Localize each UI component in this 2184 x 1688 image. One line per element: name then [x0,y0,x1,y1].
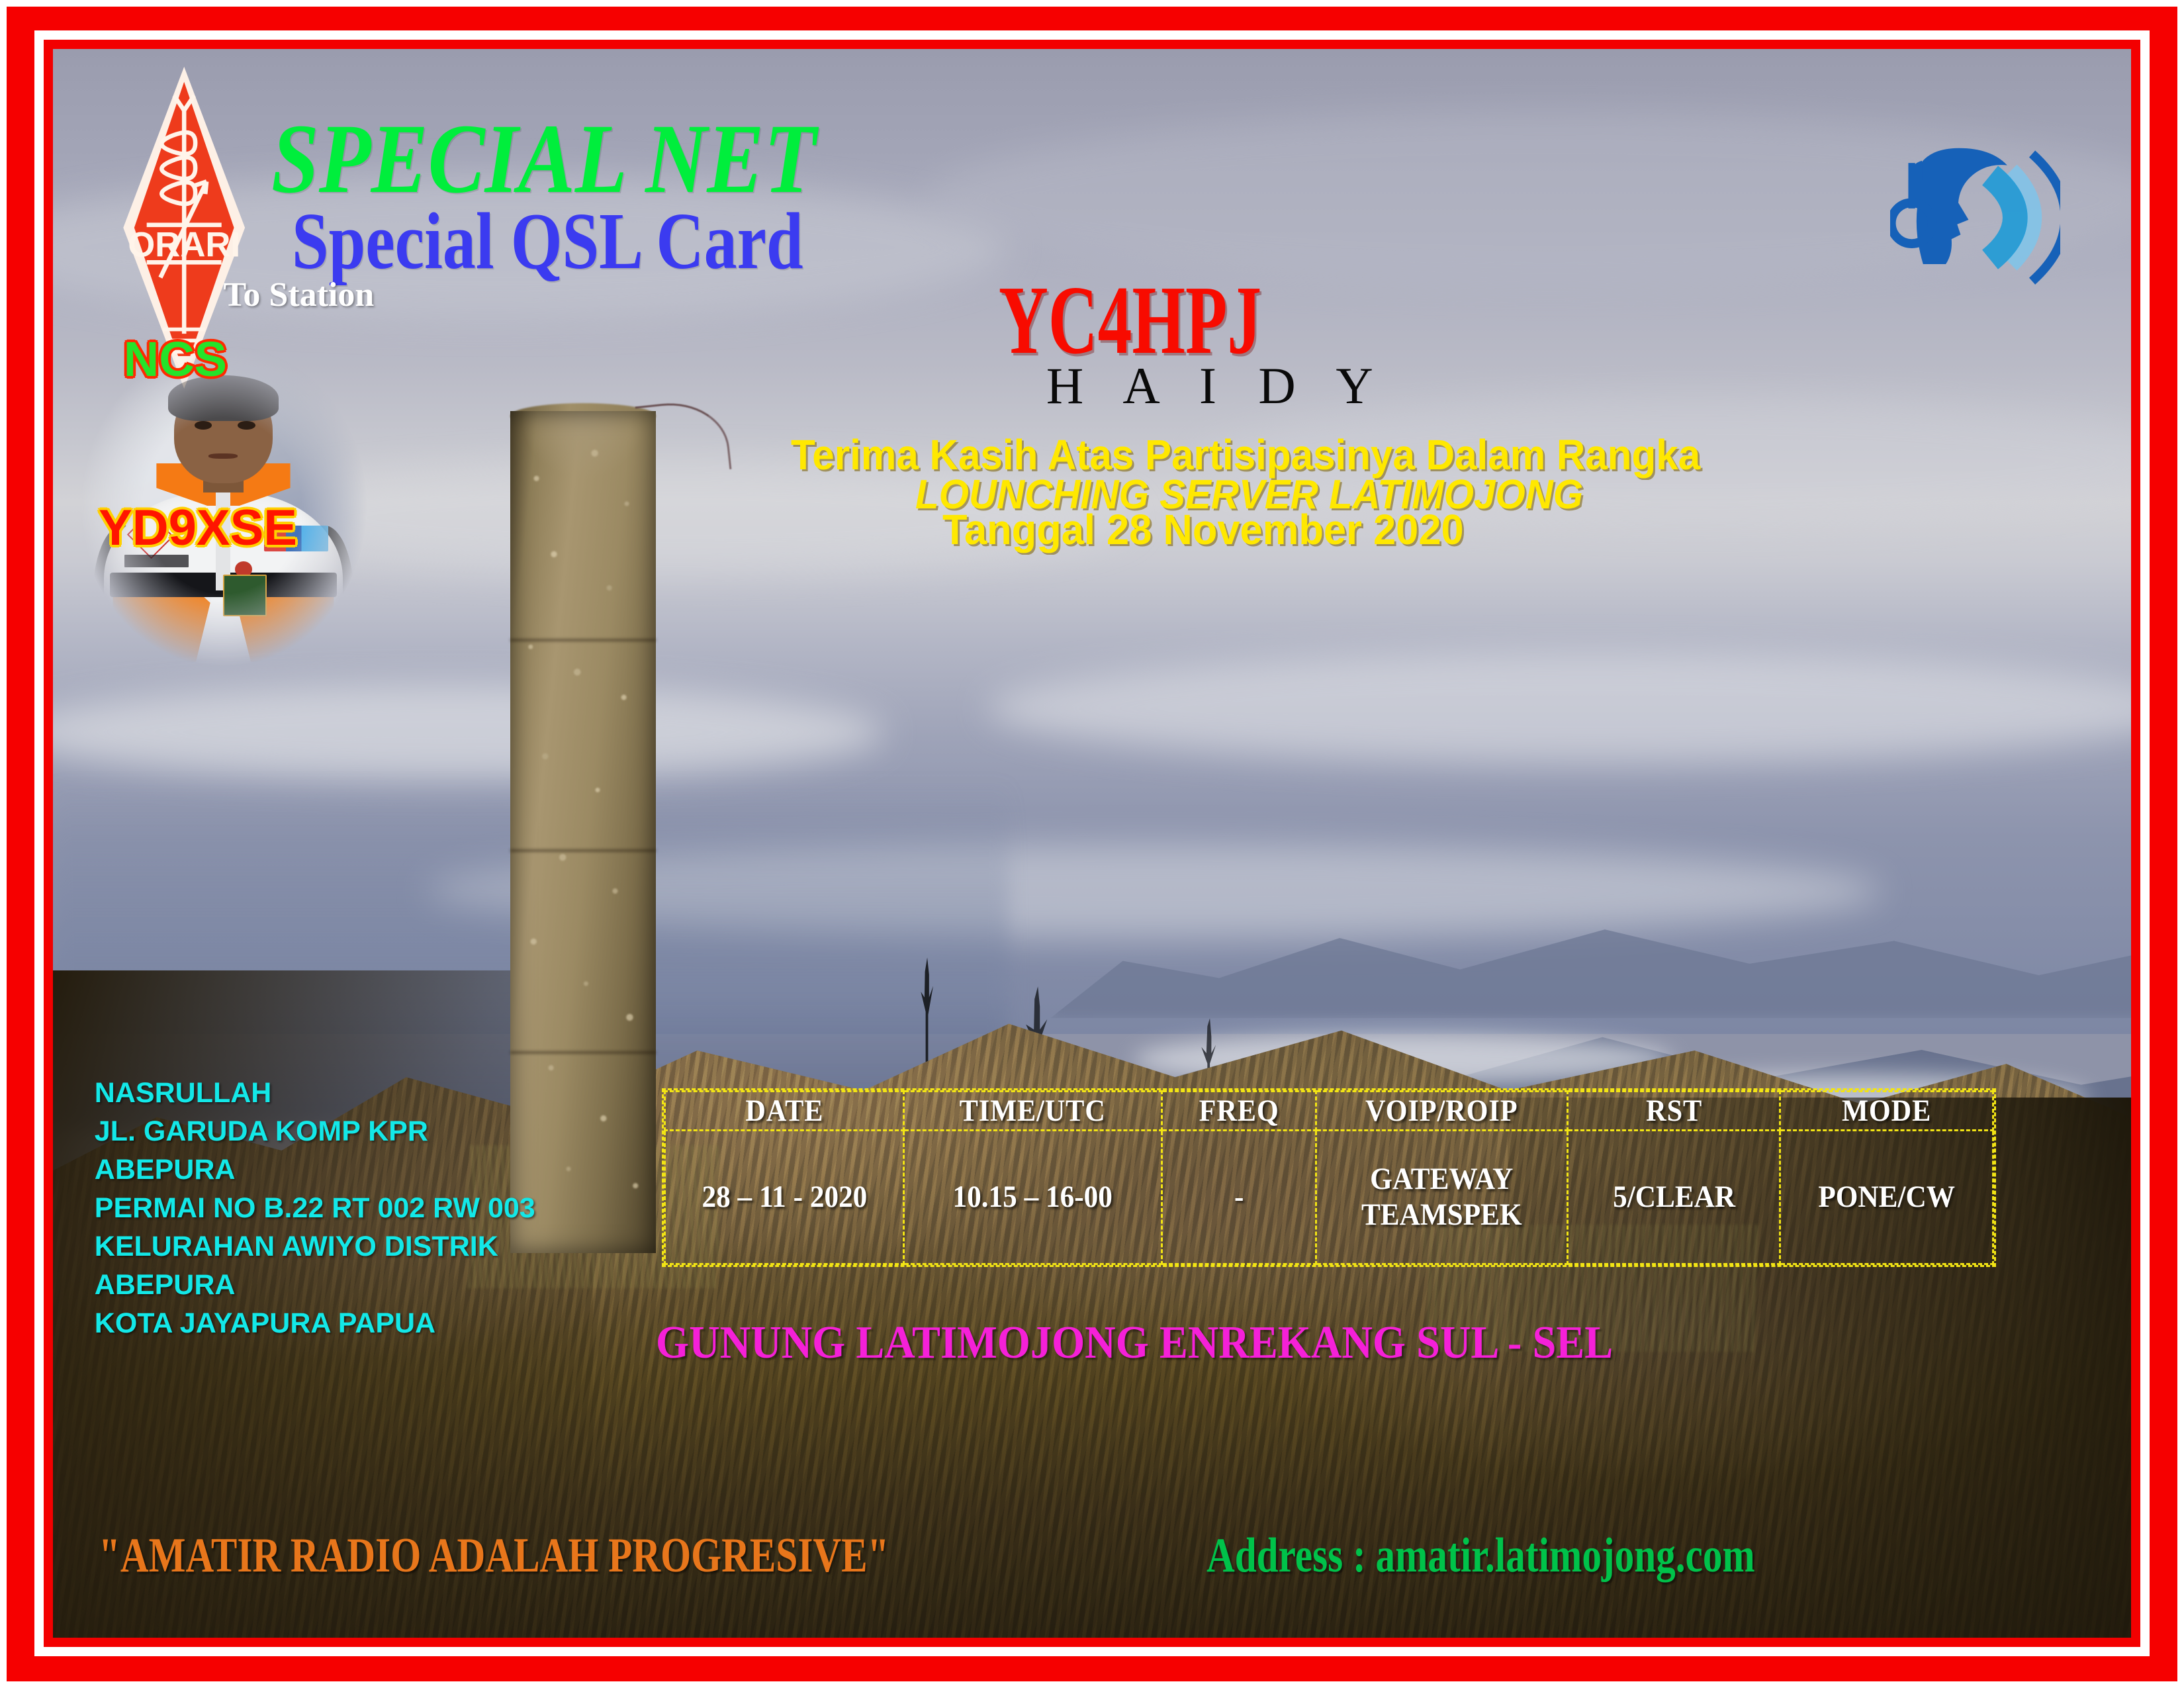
address-line: KOTA JAYAPURA PAPUA [95,1304,718,1342]
operator-name: H A I D Y [1046,360,1388,412]
table-header-row: DATE TIME/UTC FREQ VOIP/ROIP RST MODE [665,1091,1993,1130]
portrait-mouth [208,453,238,459]
column-header-date: DATE [677,1091,892,1130]
cell-mode: PONE/CW [1789,1130,1985,1264]
column-header-voip-roip: VOIP/ROIP [1328,1091,1555,1130]
address-line: KELURAHAN AWIYO DISTRIK [95,1227,718,1266]
portrait-eye-right [238,421,255,430]
cell-voip-line2: TEAMSPEK [1328,1197,1557,1233]
address-line: PERMAI NO B.22 RT 002 RW 003 [95,1189,718,1227]
page-subtitle-special-qsl-card: Special QSL Card [292,201,803,282]
address-line: ABEPURA [95,1266,718,1304]
ncs-label: NCS [124,335,227,384]
card-background-photo: ORARI [53,49,2131,1638]
column-header-mode: MODE [1791,1091,1982,1130]
cell-rst: 5/CLEAR [1576,1130,1772,1264]
event-location: GUNUNG LATIMOJONG ENREKANG SUL - SEL [656,1320,1613,1366]
uniform-callsign-embroidery [124,555,189,568]
to-station-label: To Station [223,278,374,312]
cell-date: 28 – 11 - 2020 [674,1130,894,1264]
portrait-eye-left [195,421,212,430]
svg-text:ORARI: ORARI [128,225,240,264]
event-date: Tanggal 28 November 2020 [942,508,1464,551]
column-header-time-utc: TIME/UTC [917,1091,1149,1130]
page-title-special-net: SPECIAL NET [271,109,816,209]
headset-profile-soundwave-logo-icon [1890,84,2060,351]
cell-voip-roip: GATEWAY TEAMSPEK [1326,1130,1557,1264]
thanks-line: Terima Kasih Atas Partisipasinya Dalam R… [791,434,1700,476]
pillar-seam [510,639,656,641]
station-callsign: YC4HPJ [999,271,1261,369]
id-badge [223,575,267,616]
pillar-seam [510,849,656,852]
column-header-freq: FREQ [1169,1091,1308,1130]
qsl-card: ORARI [0,0,2184,1688]
station-address-block: NASRULLAH JL. GARUDA KOMP KPR ABEPURA PE… [95,1074,718,1342]
pillar-seam [510,1051,656,1054]
address-line: JL. GARUDA KOMP KPR [95,1112,718,1150]
cell-time-utc: 10.15 – 16-00 [914,1130,1152,1264]
footer-web-address: Address : amatir.latimojong.com [1206,1531,1755,1580]
table-row: 28 – 11 - 2020 10.15 – 16-00 - GATEWAY T… [665,1130,1993,1264]
cell-voip-line1: GATEWAY [1328,1161,1557,1197]
address-line: ABEPURA [95,1150,718,1189]
cell-freq: - [1168,1130,1310,1264]
footer-motto: "AMATIR RADIO ADALAH PROGRESIVE" [99,1531,889,1580]
column-header-rst: RST [1578,1091,1770,1130]
qso-log-table: DATE TIME/UTC FREQ VOIP/ROIP RST MODE 28… [662,1088,1996,1267]
ncs-callsign: YD9XSE [99,503,297,553]
address-line: NASRULLAH [95,1074,718,1112]
